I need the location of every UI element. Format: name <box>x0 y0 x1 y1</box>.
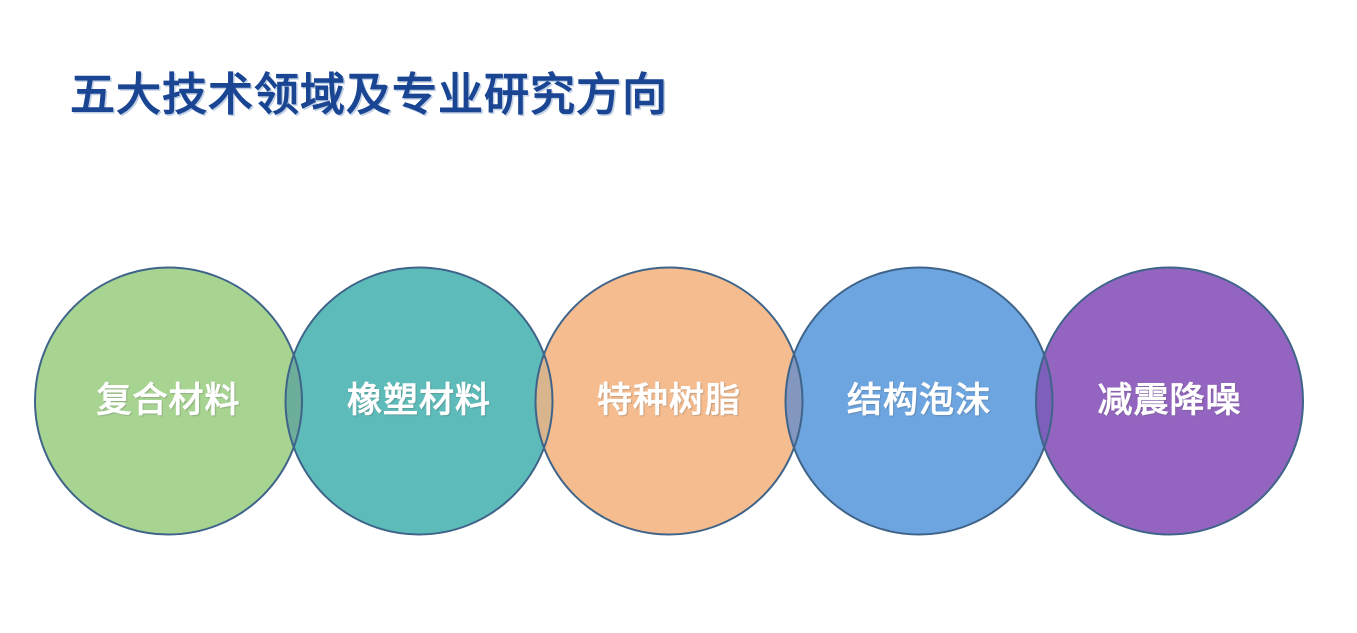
venn-circle-fill-3[interactable] <box>786 268 1053 535</box>
venn-diagram: 复合材料 橡塑材料 特种树脂 结构泡沫 减震降噪 <box>0 0 1357 633</box>
venn-circle-fill-1[interactable] <box>286 268 553 535</box>
venn-circle-fill-4[interactable] <box>1036 268 1303 535</box>
venn-circle-fill-2[interactable] <box>536 268 803 535</box>
venn-circle-fill-0[interactable] <box>35 268 302 535</box>
slide-canvas: 五大技术领域及专业研究方向 <box>0 0 1357 633</box>
venn-circles-svg <box>0 0 1357 633</box>
